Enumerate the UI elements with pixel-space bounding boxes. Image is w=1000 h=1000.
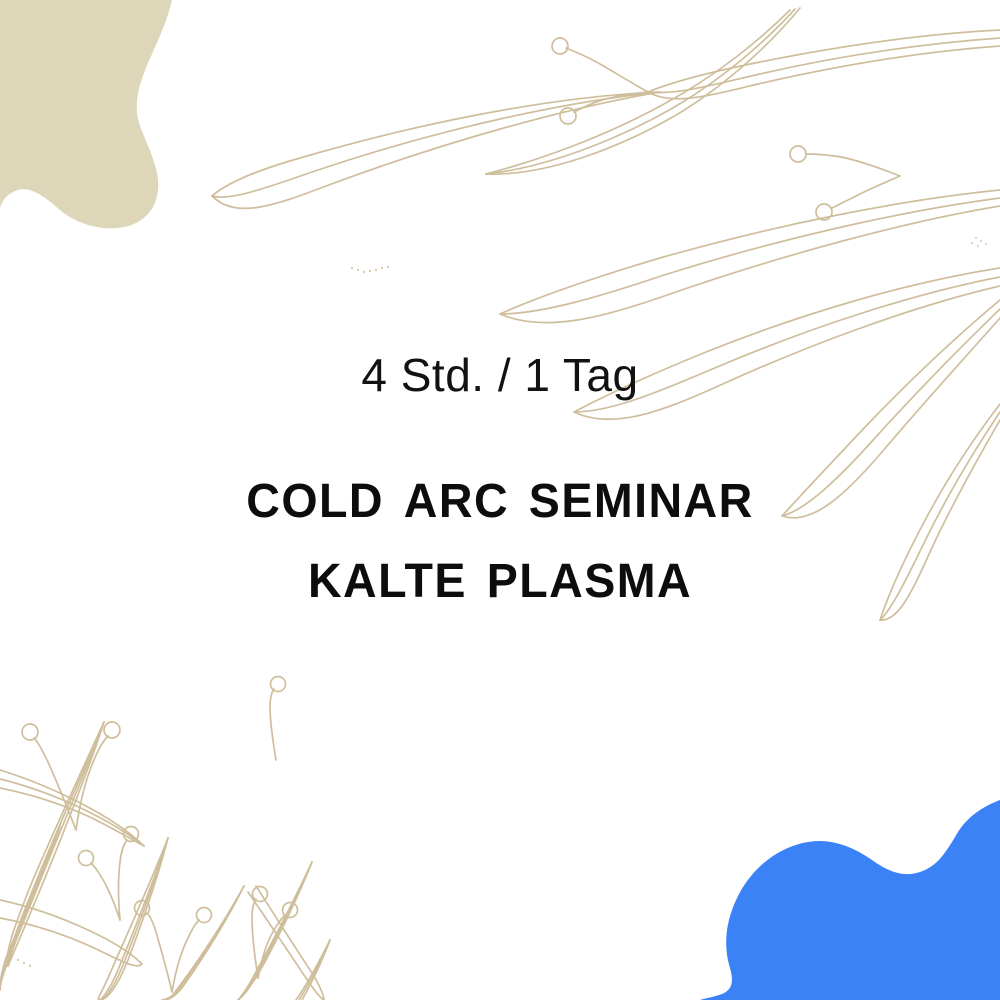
poster-text-block: 4 Std. / 1 Tag Cold Arc Seminar Kalte Pl… [0, 352, 1000, 614]
poster-subtitle: 4 Std. / 1 Tag [0, 352, 1000, 398]
poster-canvas: 4 Std. / 1 Tag Cold Arc Seminar Kalte Pl… [0, 0, 1000, 1000]
title-line-2: Kalte Plasma [15, 534, 985, 614]
title-line-1: Cold Arc Seminar [15, 454, 985, 534]
page-title: Cold Arc Seminar Kalte Plasma [15, 454, 985, 614]
